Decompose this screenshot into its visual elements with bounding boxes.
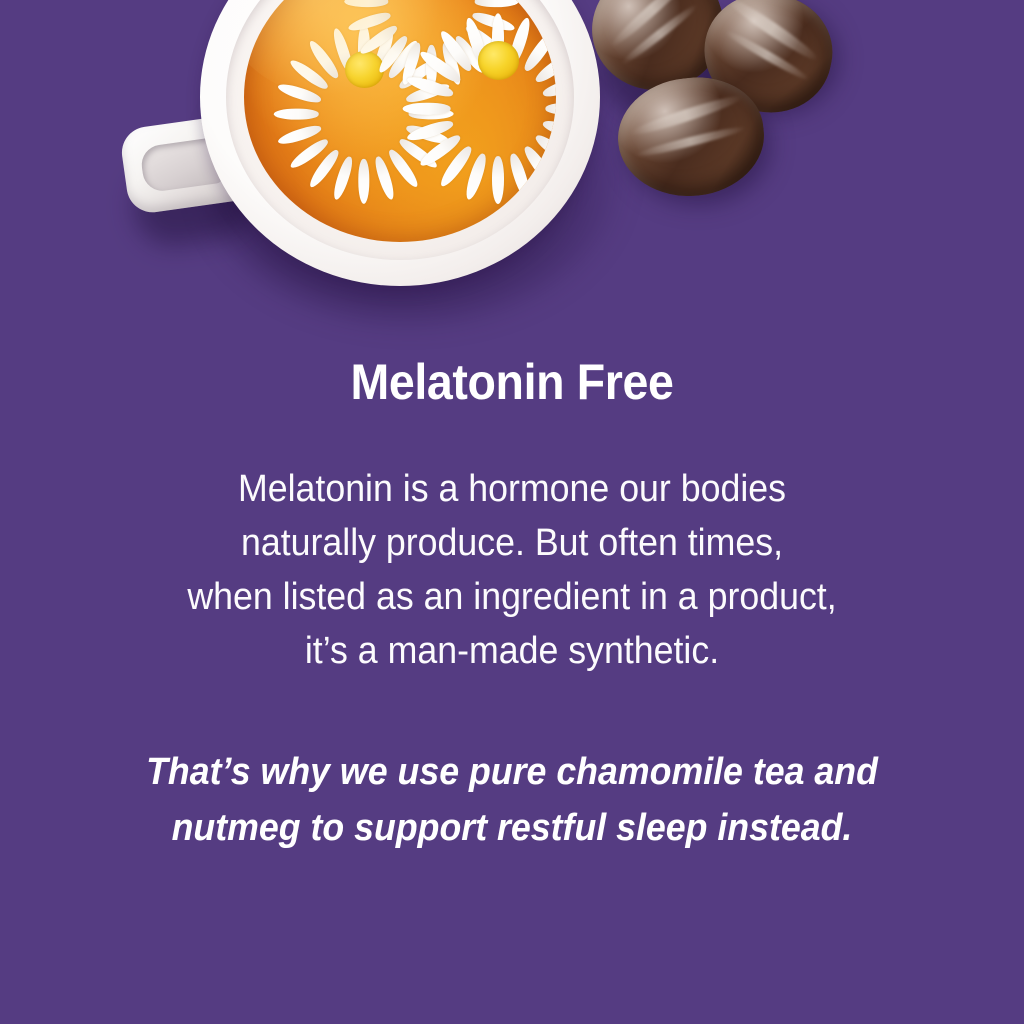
flower-petal xyxy=(277,81,323,106)
flower-petal xyxy=(403,102,451,114)
page-title: Melatonin Free xyxy=(101,355,923,410)
product-claim-poster: Melatonin Free Melatonin is a hormone ou… xyxy=(0,0,1024,1024)
emphasis-line: nutmeg to support restful sleep instead. xyxy=(97,800,928,856)
flower-petal xyxy=(373,27,398,73)
flower-petal xyxy=(546,102,556,114)
flower-petal xyxy=(307,38,343,81)
body-paragraph: Melatonin is a hormone our bodies natura… xyxy=(97,462,928,678)
body-line: when listed as an ingredient in a produc… xyxy=(97,570,928,624)
flower-petal xyxy=(274,109,319,120)
emphasis-paragraph: That’s why we use pure chamomile tea and… xyxy=(97,744,928,856)
flower-petal xyxy=(358,24,369,69)
body-line: naturally produce. But often times, xyxy=(97,516,928,570)
chamomile-flower-3 xyxy=(444,10,553,112)
flower-petal xyxy=(492,156,504,204)
flower-petal xyxy=(344,0,388,7)
body-line: it’s a man-made synthetic. xyxy=(97,624,928,678)
chamomile-flower-1 xyxy=(313,22,416,118)
text-content: Melatonin Free Melatonin is a hormone ou… xyxy=(0,355,1024,856)
flower-center xyxy=(345,51,384,87)
flower-petal xyxy=(347,10,392,34)
emphasis-line: That’s why we use pure chamomile tea and xyxy=(97,744,928,800)
flower-petal xyxy=(331,27,356,73)
flower-center xyxy=(478,41,519,80)
flower-petal xyxy=(475,0,519,7)
flower-petal xyxy=(357,23,399,58)
chamomile-flower-2 xyxy=(381,0,481,4)
chamomile-tea-photo xyxy=(0,0,1024,330)
flower-petal xyxy=(375,33,410,75)
body-line: Melatonin is a hormone our bodies xyxy=(97,462,928,516)
flower-petal xyxy=(358,159,369,204)
flower-petal xyxy=(288,57,331,93)
